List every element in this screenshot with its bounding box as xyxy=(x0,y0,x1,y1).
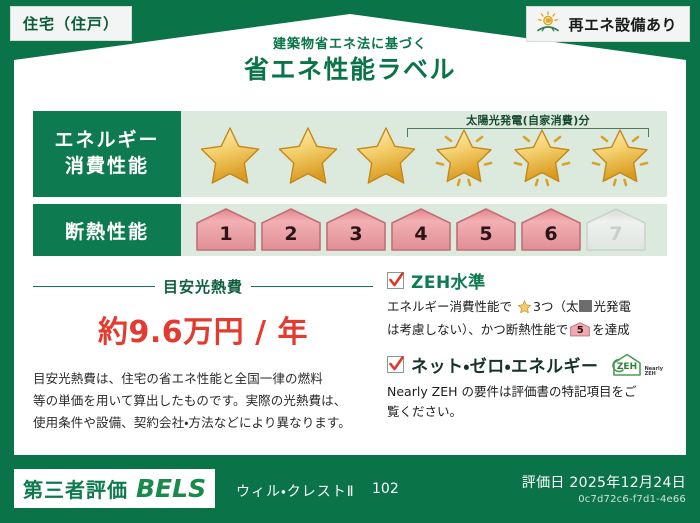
insulation-grade-2: 2 xyxy=(260,208,322,252)
insulation-grade-5: 5 xyxy=(455,208,517,252)
zeh-standard-header: ZEH水準 xyxy=(387,268,667,293)
inline-grade-value: 5 xyxy=(570,322,590,337)
insulation-performance-key: 断熱性能 xyxy=(33,204,181,256)
net-zero-body-line-2: 覧ください。 xyxy=(387,402,667,422)
insulation-grade-6-value: 6 xyxy=(520,208,582,252)
insulation-grade-4: 4 xyxy=(390,208,452,252)
energy-performance-row: エネルギー 消費性能 太陽光発電(自家消費)分 xyxy=(33,111,667,197)
insulation-grade-2-value: 2 xyxy=(260,208,322,252)
star-sparkle-icon xyxy=(507,119,577,189)
nearly-zeh-caption-line2: ZEH xyxy=(645,372,663,378)
utility-cost-heading: 目安光熱費 xyxy=(33,276,373,297)
third-party-label: 第三者評価 xyxy=(23,474,128,503)
zeh-body-part-a: エネルギー消費性能で xyxy=(387,299,512,314)
utility-cost-value: 約9.6万円 / 年 xyxy=(33,307,373,351)
insulation-grade-5-value: 5 xyxy=(455,208,517,252)
building-name: ウィル・クレストⅡ xyxy=(236,481,355,501)
net-zero-header: ネット・ゼロ・エネルギー ZEH Nearly ZEH xyxy=(387,352,667,378)
zeh-claims-block: ZEH水準 エネルギー消費性能で 3つ（太光発電 は考慮しない）、かつ断熱性能で… xyxy=(373,268,667,443)
nearly-zeh-logo: ZEH Nearly ZEH xyxy=(610,352,663,378)
svg-text:ZEH: ZEH xyxy=(616,362,636,372)
net-zero-energy-item: ネット・ゼロ・エネルギー ZEH Nearly ZEH xyxy=(387,352,667,423)
zeh-body-part-e: を達成 xyxy=(592,322,630,337)
energy-key-line2: 消費性能 xyxy=(54,154,159,180)
insulation-grade-scale: 1 2 3 xyxy=(195,204,647,256)
inline-insulation-grade-icon: 5 xyxy=(570,322,590,337)
evaluation-hash: 0c7d72c6-f7d1-4e66 xyxy=(456,494,686,505)
renewable-equipment-badge: 再エネ設備あり xyxy=(526,6,690,42)
bels-certification-badge: 第三者評価 BELS xyxy=(14,469,215,508)
evaluation-date: 評価日 2025年12月24日 xyxy=(456,472,686,492)
net-zero-body: Nearly ZEH の要件は評価書の特記項目をご 覧ください。 xyxy=(387,382,667,423)
cost-note-line-1: 目安光熱費は、住宅の省エネ性能と全国一律の燃料 xyxy=(33,368,373,390)
cost-note-line-2: 等の単価を用いて算出したものです。実際の光熱費は、 xyxy=(33,390,373,412)
star-icon xyxy=(351,119,421,189)
insulation-grade-3-value: 3 xyxy=(325,208,387,252)
utility-cost-note: 目安光熱費は、住宅の省エネ性能と全国一律の燃料 等の単価を用いて算出したものです… xyxy=(33,368,373,434)
zeh-standard-title: ZEH水準 xyxy=(411,268,486,293)
star-icon xyxy=(195,119,265,189)
cost-note-line-3: 使用条件や設備、契約会社・方法などにより異なります。 xyxy=(33,412,373,434)
zeh-body-part-d: は考慮しない）、かつ断熱性能で xyxy=(387,322,568,337)
sun-renewable-icon xyxy=(535,11,561,37)
lower-section: 目安光熱費 約9.6万円 / 年 目安光熱費は、住宅の省エネ性能と全国一律の燃料… xyxy=(33,268,667,443)
footer-band: 第三者評価 BELS ウィル・クレストⅡ 102 評価日 2025年12月24日… xyxy=(0,459,700,523)
zeh-standard-item: ZEH水準 エネルギー消費性能で 3つ（太光発電 は考慮しない）、かつ断熱性能で… xyxy=(387,268,667,341)
star-sparkle-icon xyxy=(585,119,655,189)
cost-heading-label: 目安光熱費 xyxy=(163,276,243,297)
checkbox-checked-icon xyxy=(387,272,404,289)
cost-heading-rule-left xyxy=(33,286,155,287)
net-zero-title: ネット・ゼロ・エネルギー xyxy=(411,352,599,377)
energy-performance-label: 建築物省エネ法に基づく 省エネ性能ラベル 住宅（住戸） 再エネ設備あり xyxy=(0,0,700,523)
star-icon xyxy=(273,119,343,189)
net-zero-body-line-1: Nearly ZEH の要件は評価書の特記項目をご xyxy=(387,382,667,402)
insulation-grade-3: 3 xyxy=(325,208,387,252)
renewable-badge-label: 再エネ設備あり xyxy=(568,14,677,35)
cost-heading-rule-right xyxy=(251,286,373,287)
insulation-performance-value: 1 2 3 xyxy=(181,204,667,256)
housing-type-badge: 住宅（住戸） xyxy=(10,6,132,41)
insulation-performance-row: 断熱性能 xyxy=(33,204,667,256)
nearly-zeh-caption: Nearly ZEH xyxy=(645,367,663,378)
zeh-body-part-c: 光発電 xyxy=(593,299,631,314)
checkbox-checked-icon xyxy=(387,356,404,373)
page-title: 省エネ性能ラベル xyxy=(0,55,700,85)
insulation-grade-7: 7 xyxy=(585,208,647,252)
inline-star-icon xyxy=(513,302,532,317)
building-unit-number: 102 xyxy=(372,481,399,497)
zeh-standard-body: エネルギー消費性能で 3つ（太光発電 は考慮しない）、かつ断熱性能で 5を達成 xyxy=(387,297,667,341)
energy-performance-value: 太陽光発電(自家消費)分 xyxy=(181,111,667,197)
zeh-body-part-b: 3つ（太 xyxy=(533,299,578,314)
energy-key-line1: エネルギー xyxy=(54,128,159,154)
title-block: 建築物省エネ法に基づく 省エネ性能ラベル xyxy=(0,38,700,85)
energy-star-rating xyxy=(195,111,655,197)
insulation-grade-6: 6 xyxy=(520,208,582,252)
insulation-grade-4-value: 4 xyxy=(390,208,452,252)
insulation-grade-7-value: 7 xyxy=(585,208,647,252)
utility-cost-block: 目安光熱費 約9.6万円 / 年 目安光熱費は、住宅の省エネ性能と全国一律の燃料… xyxy=(33,268,373,443)
redacted-character-block xyxy=(579,300,592,312)
insulation-grade-1: 1 xyxy=(195,208,257,252)
star-sparkle-icon xyxy=(429,119,499,189)
energy-performance-key: エネルギー 消費性能 xyxy=(33,111,181,197)
main-card: エネルギー 消費性能 太陽光発電(自家消費)分 xyxy=(14,100,686,455)
bels-logo-text: BELS xyxy=(136,474,206,503)
insulation-grade-1-value: 1 xyxy=(195,208,257,252)
